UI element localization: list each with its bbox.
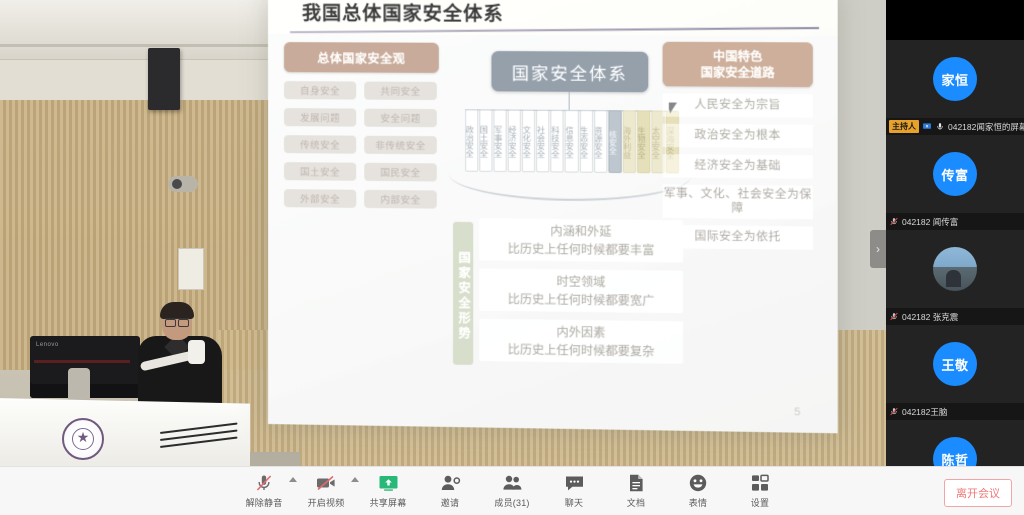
participant-name: 042182王脑 [902,406,947,418]
security-category: 经济安全 [508,110,521,173]
university-emblem [62,418,104,460]
left-pair-row: 外部安全内部安全 [284,189,443,209]
right-header-line1: 中国特色 [713,48,762,65]
right-column-header: 中国特色 国家安全道路 [663,42,813,87]
microphone-head [188,340,205,364]
leave-meeting-button[interactable]: 离开会议 [944,479,1012,507]
meeting-toolbar: 解除静音开启视频共享屏幕邀请成员(31)聊天文档表情设置 离开会议 [0,466,1024,515]
center-vertical-label: 国家安全形势 [453,222,473,365]
security-category-row: 政治安全国土安全军事安全经济安全文化安全社会安全科技安全信息安全生态安全资源安全… [465,109,679,173]
left-pair-row: 自身安全共同安全 [284,81,443,100]
participant-name: 042182闻家恒的屏幕... [948,121,1024,133]
right-header-line2: 国家安全道路 [701,64,775,81]
security-category: 生态安全 [579,110,592,173]
participant-name-bar[interactable]: 042182王脑 [886,403,1024,420]
participant-tile[interactable]: 家恒 [886,40,1024,118]
panel-collapse-button[interactable]: › [870,230,886,268]
participant-name: 042182 张克震 [902,311,958,323]
security-category: 信息安全 [565,110,578,173]
security-category: 海外利益 [622,110,635,173]
center-item: 内涵和外延比历史上任何时候都要丰富 [479,218,683,263]
monitor-brand-label: Lenovo [36,342,59,348]
right-column-item: 国际安全为依托 [663,225,813,250]
security-category: 军事安全 [494,109,507,172]
document-icon [627,472,645,494]
left-pair-label: 共同安全 [364,82,437,101]
slide-body: 国家安全体系 政治安全国土安全军事安全经济安全文化安全社会安全科技安全信息安全生… [268,34,838,433]
mic-muted-icon [889,407,899,416]
right-column-item: 政治安全为根本 [663,124,813,148]
center-item: 内外因素比历史上任何时候都要复杂 [479,319,683,364]
settings-icon [750,472,770,494]
toolbar-mic-muted-button[interactable]: 解除静音 [233,469,295,514]
security-category: 政治安全 [465,109,478,171]
left-pair-row: 传统安全非传统安全 [284,135,443,154]
right-column-items: 人民安全为宗旨政治安全为根本经济安全为基础军事、文化、社会安全为保障国际安全为依… [663,93,817,249]
left-pair-label: 传统安全 [284,135,356,154]
presenter-glasses [165,318,189,324]
toolbar-item-label: 成员(31) [494,496,529,509]
participant-name-bar[interactable]: 042182 闻传富 [886,213,1024,230]
center-item-title: 时空领域 [479,271,683,292]
slide-center-box: 国家安全体系 [491,51,648,92]
left-pair-row: 发展问题安全问题 [284,108,443,127]
video-off-icon [315,472,337,494]
slide-page-number: 5 [794,406,800,418]
screen-share-icon [922,122,932,131]
left-pair-label: 发展问题 [284,108,356,127]
slide-connector-stem [569,92,570,110]
security-category: 文化安全 [522,110,535,173]
security-category: 生物安全 [637,110,650,173]
security-category: 核安全 [608,110,621,173]
invite-icon [440,472,461,494]
left-pair-label: 外部安全 [284,189,356,208]
center-item: 时空领域比历史上任何时候都要宽广 [479,268,683,313]
left-pair-row: 国土安全国民安全 [284,162,443,181]
participant-list: 家恒主持人042182闻家恒的屏幕...传富042182 闻传富042182 张… [886,40,1024,515]
monitor-accent [34,360,130,363]
participant-panel[interactable]: 家恒主持人042182闻家恒的屏幕...传富042182 闻传富042182 张… [886,0,1024,466]
slide-left-column: 总体国家安全观 自身安全共同安全发展问题安全问题传统安全非传统安全国土安全国民安… [284,42,443,209]
share-screen-icon [378,472,399,494]
toolbar-item-label: 开启视频 [308,496,345,509]
toolbar-chat-button[interactable]: 聊天 [543,469,605,514]
projected-slide: 我国总体国家安全体系 国家安全体系 政治安全国土安全军事安全经济安全文化安全社会… [268,0,838,433]
toolbar-item-label: 表情 [689,496,707,509]
center-items-group: 内涵和外延比历史上任何时候都要丰富时空领域比历史上任何时候都要宽广内外因素比历史… [268,34,838,36]
toolbar-video-off-button[interactable]: 开启视频 [295,469,357,514]
toolbar-participants-button[interactable]: 成员(31) [481,469,543,514]
slide-bowl-shape [449,172,691,202]
avatar: 王敬 [933,342,977,386]
meeting-app: Lenovo 我国总体国家安全体系 国家安全体系 政治安全国土安全军事 [0,0,1024,515]
center-item-desc: 比历史上任何时候都要复杂 [479,340,683,361]
chat-icon [564,472,585,494]
security-category: 科技安全 [551,110,564,173]
right-column-item: 军事、文化、社会安全为保障 [663,184,813,219]
security-category: 国土安全 [479,109,492,172]
panel-top-spacer [886,0,1024,40]
center-item-desc: 比历史上任何时候都要丰富 [479,239,683,259]
microphone-stand [68,368,90,402]
center-item-title: 内涵和外延 [479,221,683,241]
toolbar-item-label: 设置 [751,496,769,509]
toolbar-item-label: 解除静音 [246,496,283,509]
toolbar-items: 解除静音开启视频共享屏幕邀请成员(31)聊天文档表情设置 [233,469,791,514]
center-item-desc: 比历史上任何时候都要宽广 [479,290,683,311]
toolbar-share-screen-button[interactable]: 共享屏幕 [357,469,419,514]
mic-icon [935,122,945,131]
left-pair-label: 内部安全 [364,190,437,209]
emoji-icon [688,472,708,494]
left-pair-label: 国民安全 [364,163,437,182]
right-column-item: 经济安全为基础 [663,154,813,179]
toolbar-item-label: 共享屏幕 [370,496,407,509]
participant-name: 042182 闻传富 [902,216,958,228]
wall-camera-icon [168,176,198,192]
wall-speaker [148,48,180,110]
podium-stripes [160,432,240,454]
left-pair-label: 国土安全 [284,162,356,181]
presenter-hair [160,302,194,319]
right-column-item: 人民安全为宗旨 [663,93,813,117]
toolbar-item-label: 邀请 [441,496,459,509]
toolbar-settings-button[interactable]: 设置 [729,469,791,514]
participants-icon [502,472,523,494]
slide-title-rule [290,27,819,33]
toolbar-item-label: 文档 [627,496,645,509]
mic-muted-icon [889,217,899,226]
ceiling-line [0,44,300,47]
toolbar-item-label: 聊天 [565,496,583,509]
slide-title: 我国总体国家安全体系 [302,0,504,26]
left-column-header: 总体国家安全观 [284,42,439,73]
left-pair-label: 安全问题 [364,109,437,128]
avatar: 家恒 [933,57,977,101]
left-pair-label: 非传统安全 [364,136,437,155]
shared-screen-stage[interactable]: Lenovo 我国总体国家安全体系 国家安全体系 政治安全国土安全军事 [0,0,886,466]
security-category: 资源安全 [594,110,607,173]
avatar [933,247,977,291]
host-badge: 主持人 [889,120,919,133]
left-pair-label: 自身安全 [284,81,356,99]
participant-name-bar[interactable]: 主持人042182闻家恒的屏幕... [886,118,1024,135]
security-category: 社会安全 [536,110,549,173]
slide-right-column: 中国特色 国家安全道路 人民安全为宗旨政治安全为根本经济安全为基础军事、文化、社… [663,42,817,250]
toolbar-invite-button[interactable]: 邀请 [419,469,481,514]
participant-name-bar[interactable]: 042182 张克震 [886,308,1024,325]
mic-muted-icon [889,312,899,321]
participant-tile[interactable]: 王敬 [886,325,1024,403]
participant-tile[interactable]: 传富 [886,135,1024,213]
avatar: 传富 [933,152,977,196]
toolbar-document-button[interactable]: 文档 [605,469,667,514]
wall-control-plate [178,248,204,290]
mic-muted-icon [254,472,274,494]
toolbar-emoji-button[interactable]: 表情 [667,469,729,514]
left-column-pairs: 自身安全共同安全发展问题安全问题传统安全非传统安全国土安全国民安全外部安全内部安… [284,81,443,209]
participant-tile[interactable] [886,230,1024,308]
